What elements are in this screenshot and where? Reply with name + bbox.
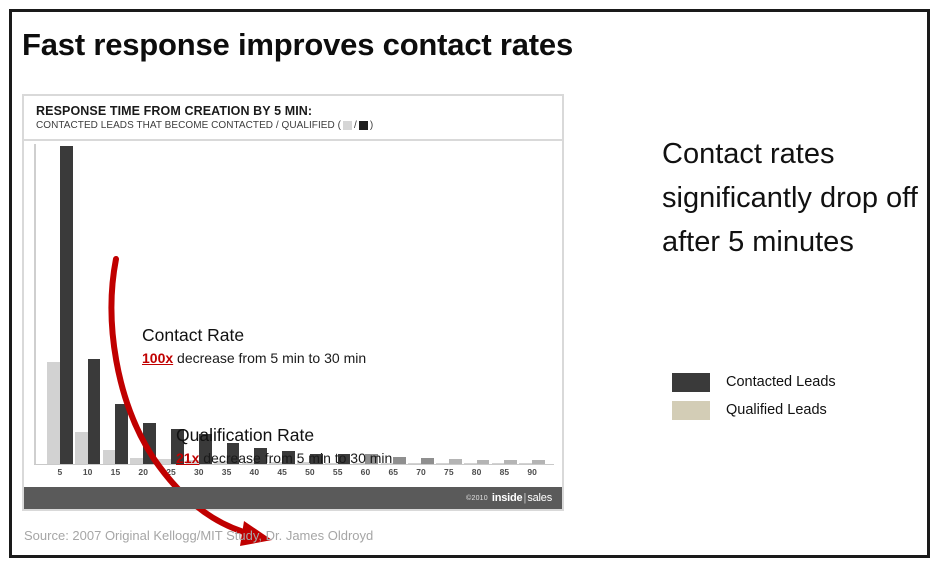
x-axis-tick-label: 75 [435,467,463,483]
slide-canvas: Fast response improves contact rates RES… [0,0,940,568]
x-axis-tick-label: 10 [74,467,102,483]
legend-item: Qualified Leads [672,396,922,424]
bar-contacted [393,457,406,464]
bar-group [185,146,213,464]
legend-label: Contacted Leads [726,374,836,390]
legend-item: Contacted Leads [672,368,922,396]
bar-group [463,146,491,464]
source-citation: Source: 2007 Original Kellogg/MIT Study,… [24,528,373,543]
x-axis-tick-label: 30 [185,467,213,483]
chart-subtitle-text: CONTACTED LEADS THAT BECOME CONTACTED / … [36,120,341,131]
bar-contacted [88,359,101,464]
bar-group [240,146,268,464]
legend-swatch-icon [672,401,710,420]
annotation-contact-rate-rest: decrease from 5 min to 30 min [173,350,366,366]
annotation-contact-rate-heading: Contact Rate [142,324,366,346]
bar-group [74,146,102,464]
legend-swatch-icon [672,373,710,392]
bar-group [268,146,296,464]
bar-group [435,146,463,464]
legend-label: Qualified Leads [726,402,827,418]
x-axis-tick-label: 15 [102,467,130,483]
x-axis-tick-label: 80 [463,467,491,483]
x-axis-tick-label: 90 [518,467,546,483]
annotation-contact-rate: Contact Rate 100x decrease from 5 min to… [142,324,366,369]
x-axis-tick-label: 45 [268,467,296,483]
bar-group [407,146,435,464]
x-axis-tick-label: 70 [407,467,435,483]
bar-contacted [60,146,73,464]
qualified-swatch-icon [343,121,352,130]
watermark-brand-separator: | [523,492,526,504]
x-axis-tick-label: 35 [213,467,241,483]
chart-legend: Contacted LeadsQualified Leads [672,368,922,424]
annotation-qualification-rate: Qualification Rate 21x decrease from 5 m… [176,424,392,469]
bar-group [102,146,130,464]
bar-qualified [103,450,116,464]
annotation-contact-rate-multiplier: 100x [142,350,173,366]
x-axis-tick-label: 40 [240,467,268,483]
x-axis-tick-label: 60 [352,467,380,483]
x-axis-tick-label: 25 [157,467,185,483]
annotation-contact-rate-detail: 100x decrease from 5 min to 30 min [142,348,366,369]
x-axis-tick-label: 55 [324,467,352,483]
chart-card: RESPONSE TIME FROM CREATION BY 5 MIN: CO… [22,94,564,511]
x-axis-tick-label: 65 [379,467,407,483]
annotation-qualification-rate-detail: 21x decrease from 5 min to 30 min [176,448,392,469]
chart-title: RESPONSE TIME FROM CREATION BY 5 MIN: [36,104,562,118]
chart-watermark-bar: ©2010 inside | sales [24,487,562,509]
bar-group [296,146,324,464]
x-axis-tick-label: 50 [296,467,324,483]
contacted-swatch-icon [359,121,368,130]
annotation-qualification-rate-rest: decrease from 5 min to 30 min [199,450,392,466]
chart-subtitle-close: ) [370,120,373,131]
bar-group [324,146,352,464]
bar-group [352,146,380,464]
bar-group [213,146,241,464]
page-title: Fast response improves contact rates [22,22,802,68]
x-axis-tick-label: 20 [129,467,157,483]
annotation-qualification-rate-heading: Qualification Rate [176,424,392,446]
chart-subtitle-separator: / [354,120,357,131]
watermark-brand-inside: inside [492,492,523,504]
x-axis-tick-labels: 51015202530354045505560657075808590 [46,467,546,483]
bar-group [157,146,185,464]
x-axis-tick-label: 5 [46,467,74,483]
bar-contacted [143,423,156,464]
watermark-brand-sales: sales [527,492,552,504]
bar-qualified [47,362,60,464]
chart-plot-area [34,144,554,464]
bar-group [46,146,74,464]
chart-subtitle: CONTACTED LEADS THAT BECOME CONTACTED / … [36,120,562,131]
bar-group [129,146,157,464]
bar-group-container [46,146,546,464]
x-axis-tick-label: 85 [491,467,519,483]
summary-statement: Contact rates significantly drop off aft… [662,132,924,264]
bar-contacted [115,404,128,464]
bar-group [379,146,407,464]
bar-group [518,146,546,464]
chart-header: RESPONSE TIME FROM CREATION BY 5 MIN: CO… [24,96,562,141]
annotation-qualification-rate-multiplier: 21x [176,450,199,466]
watermark-copyright: ©2010 [466,495,488,502]
bar-group [491,146,519,464]
bar-qualified [75,432,88,464]
